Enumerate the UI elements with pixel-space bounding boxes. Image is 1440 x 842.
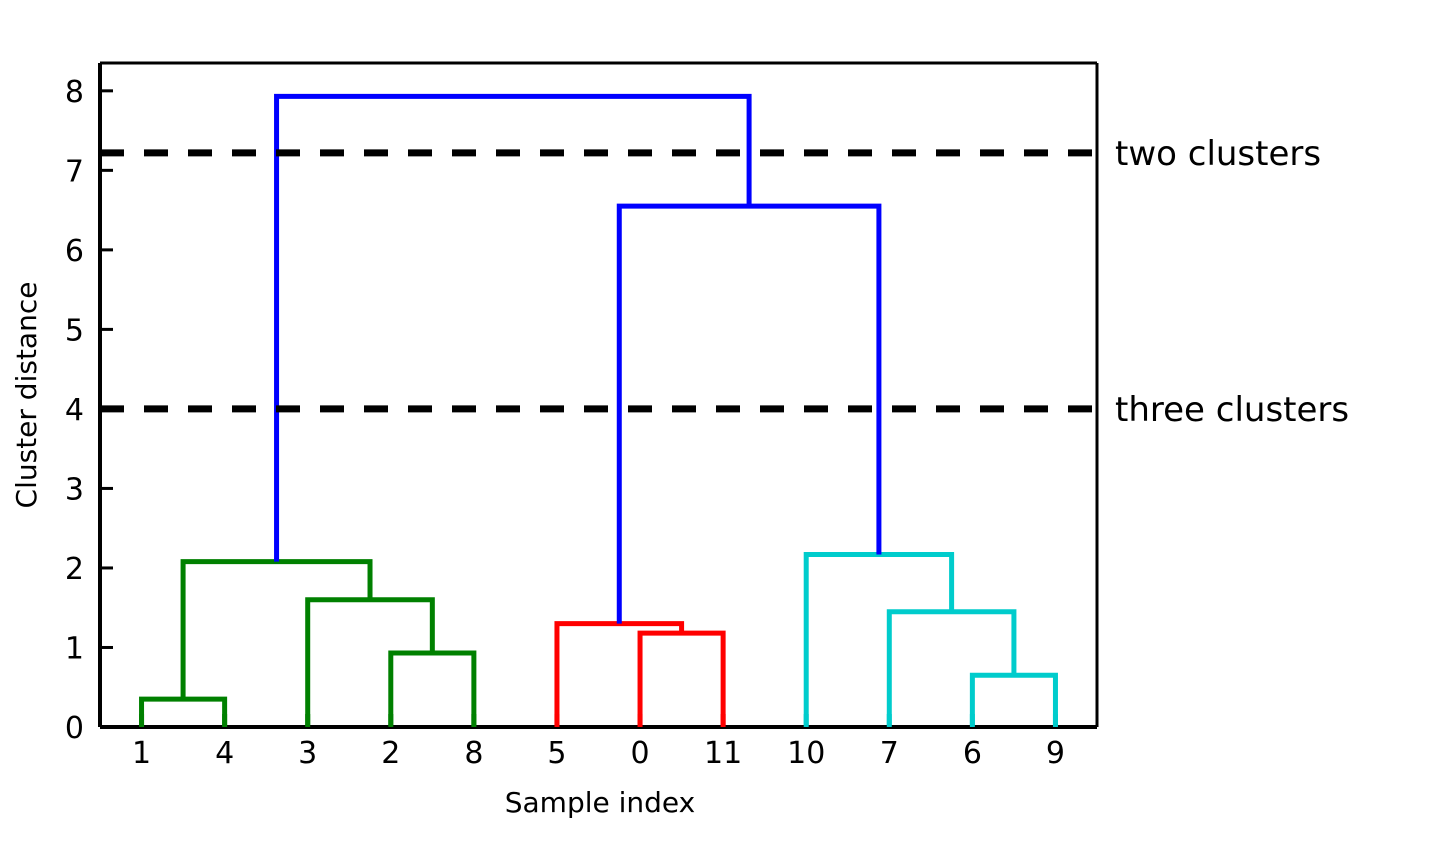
y-tick-label-6: 6 bbox=[65, 234, 84, 269]
plot-background bbox=[100, 63, 1097, 727]
y-tick-label-8: 8 bbox=[65, 75, 84, 110]
y-axis-title: Cluster distance bbox=[10, 282, 43, 509]
y-tick-label-0: 0 bbox=[65, 711, 84, 746]
x-tick-label-5: 5 bbox=[547, 736, 566, 771]
dendrogram-figure: 012345678 14328501110769 two clustersthr… bbox=[0, 0, 1440, 842]
y-tick-label-5: 5 bbox=[65, 313, 84, 348]
x-tick-label-9: 9 bbox=[1046, 736, 1065, 771]
dendrogram-plot: 012345678 14328501110769 two clustersthr… bbox=[0, 0, 1440, 842]
y-tick-label-1: 1 bbox=[65, 631, 84, 666]
x-tick-label-0: 0 bbox=[630, 736, 649, 771]
x-tick-label-7: 7 bbox=[880, 736, 899, 771]
x-tick-label-1: 1 bbox=[132, 736, 151, 771]
x-tick-label-6: 6 bbox=[963, 736, 982, 771]
x-tick-label-10: 10 bbox=[787, 736, 825, 771]
x-tick-label-2: 2 bbox=[381, 736, 400, 771]
threshold-annotations-group: two clustersthree clusters bbox=[1115, 134, 1349, 430]
x-tick-label-11: 11 bbox=[704, 736, 742, 771]
y-tick-label-4: 4 bbox=[65, 393, 84, 428]
y-tick-label-3: 3 bbox=[65, 472, 84, 507]
annotation-t-two: two clusters bbox=[1115, 134, 1321, 174]
y-tick-label-7: 7 bbox=[65, 154, 84, 189]
annotation-t-three: three clusters bbox=[1115, 390, 1349, 430]
x-tick-label-8: 8 bbox=[464, 736, 483, 771]
x-tick-label-3: 3 bbox=[298, 736, 317, 771]
y-tick-label-2: 2 bbox=[65, 552, 84, 587]
x-axis-title: Sample index bbox=[505, 786, 696, 819]
x-tick-label-4: 4 bbox=[215, 736, 234, 771]
